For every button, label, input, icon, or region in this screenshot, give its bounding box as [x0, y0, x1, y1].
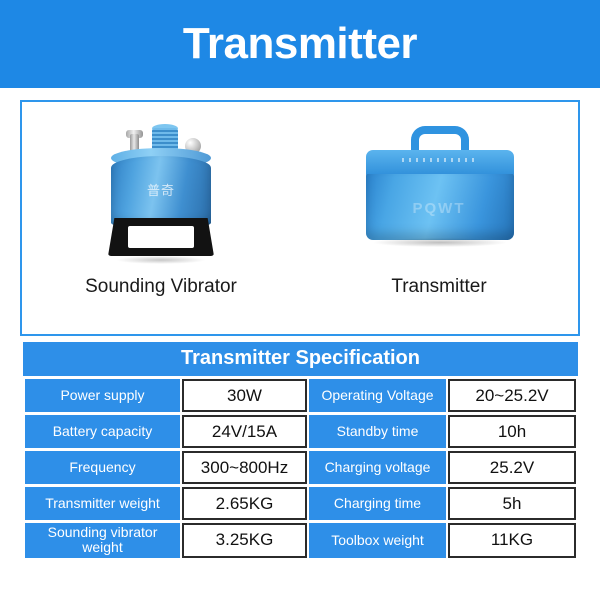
product-label-vibrator: Sounding Vibrator — [85, 276, 237, 298]
spec-label: Charging time — [309, 487, 446, 520]
spec-label: Standby time — [309, 415, 446, 448]
specification-section: Transmitter Specification Power supply 3… — [23, 342, 578, 561]
vibrator-icon: 普奇 — [96, 118, 226, 268]
spec-value: 11KG — [448, 523, 576, 558]
table-row: Sounding vibrator weight 3.25KG Toolbox … — [25, 523, 576, 558]
vibrator-shadow — [116, 256, 206, 264]
specification-table-body: Power supply 30W Operating Voltage 20~25… — [25, 379, 576, 558]
spec-label: Toolbox weight — [309, 523, 446, 558]
product-showcase-frame: 普奇 Sounding Vibrator — [20, 100, 580, 336]
toolbox-brand-logo: PQWT — [354, 200, 524, 217]
spec-label: Battery capacity — [25, 415, 180, 448]
toolbox-vents-icon — [402, 158, 478, 162]
spec-label: Frequency — [25, 451, 180, 484]
product-label-transmitter: Transmitter — [391, 276, 486, 298]
spec-value: 30W — [182, 379, 307, 412]
table-row: Power supply 30W Operating Voltage 20~25… — [25, 379, 576, 412]
vibrator-brand-logo: 普奇 — [96, 180, 226, 199]
spec-value: 25.2V — [448, 451, 576, 484]
spec-value: 3.25KG — [182, 523, 307, 558]
spec-value: 300~800Hz — [182, 451, 307, 484]
spec-label: Power supply — [25, 379, 180, 412]
product-spec-page: Transmitter 普奇 — [0, 0, 600, 600]
product-cell-vibrator: 普奇 Sounding Vibrator — [22, 102, 300, 334]
showcase-wrapper: 普奇 Sounding Vibrator — [0, 88, 600, 336]
product-cell-transmitter: PQWT Transmitter — [300, 102, 578, 334]
vibrator-base-opening — [128, 226, 194, 248]
toolbox-icon: PQWT — [354, 118, 524, 268]
specification-table: Power supply 30W Operating Voltage 20~25… — [23, 376, 578, 561]
toolbox-lid — [366, 150, 514, 176]
toolbox-shadow — [374, 238, 506, 247]
spec-value: 20~25.2V — [448, 379, 576, 412]
vibrator-image: 普奇 — [96, 108, 226, 268]
table-row: Frequency 300~800Hz Charging voltage 25.… — [25, 451, 576, 484]
table-row: Transmitter weight 2.65KG Charging time … — [25, 487, 576, 520]
spec-value: 5h — [448, 487, 576, 520]
spec-label: Operating Voltage — [309, 379, 446, 412]
spec-label: Sounding vibrator weight — [25, 523, 180, 558]
page-title: Transmitter — [183, 22, 417, 66]
transmitter-image: PQWT — [354, 108, 524, 268]
spec-label: Charging voltage — [309, 451, 446, 484]
spec-label: Transmitter weight — [25, 487, 180, 520]
spec-value: 2.65KG — [182, 487, 307, 520]
specification-title: Transmitter Specification — [23, 342, 578, 376]
spec-value: 10h — [448, 415, 576, 448]
spec-value: 24V/15A — [182, 415, 307, 448]
page-header: Transmitter — [0, 0, 600, 88]
table-row: Battery capacity 24V/15A Standby time 10… — [25, 415, 576, 448]
